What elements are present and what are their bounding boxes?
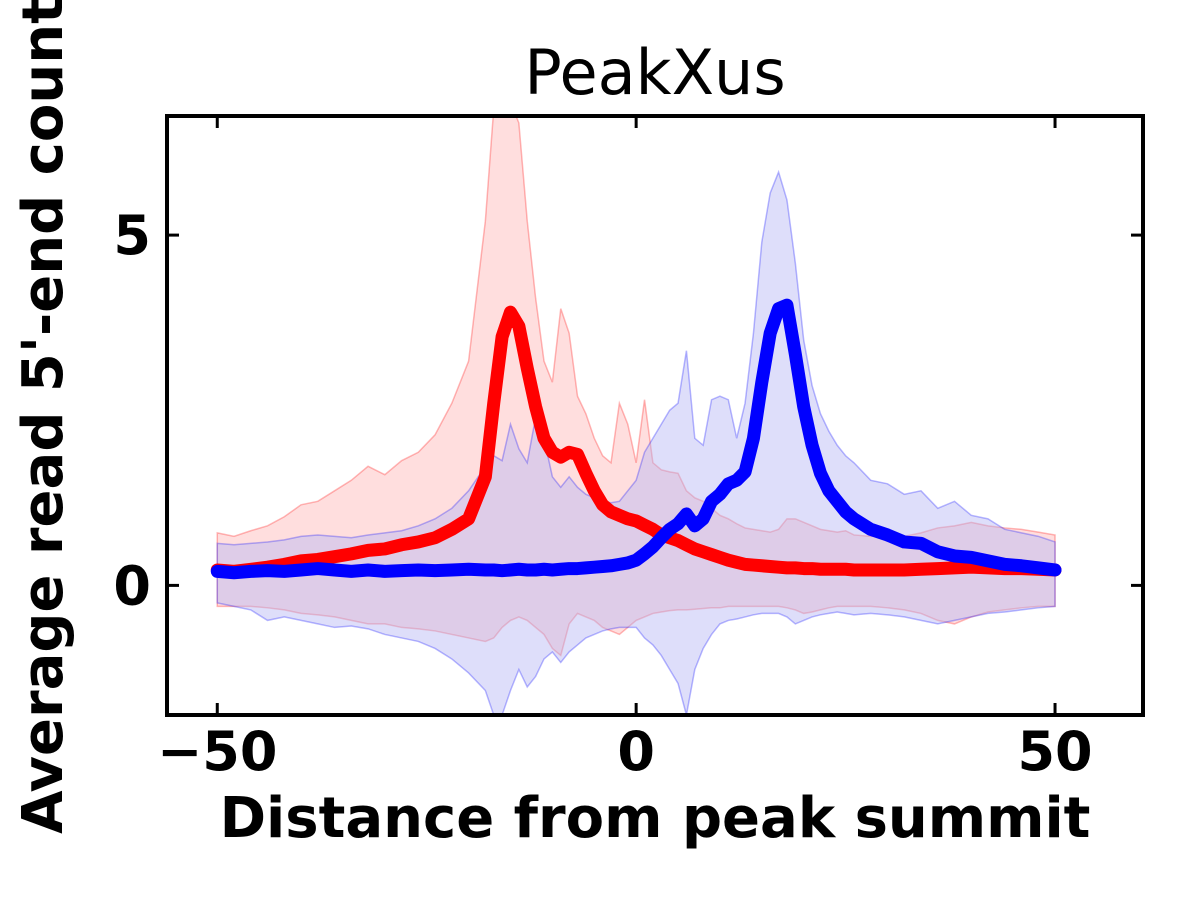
y-tick-label: 0 <box>113 554 151 617</box>
x-tick-label: 0 <box>617 720 655 783</box>
y-tick-label: 5 <box>113 204 151 267</box>
plot-area <box>217 102 1055 715</box>
chart-title: PeakXus <box>524 36 785 109</box>
chart-svg: −5005005PeakXusDistance from peak summit… <box>0 0 1200 900</box>
x-tick-label: 50 <box>1017 720 1092 783</box>
x-tick-label: −50 <box>157 720 277 783</box>
chart-figure: −5005005PeakXusDistance from peak summit… <box>0 0 1200 900</box>
y-axis-label: Average read 5'-end count <box>11 0 76 834</box>
confidence-band-reverse-strand <box>217 172 1055 715</box>
x-axis-label: Distance from peak summit <box>220 786 1091 851</box>
